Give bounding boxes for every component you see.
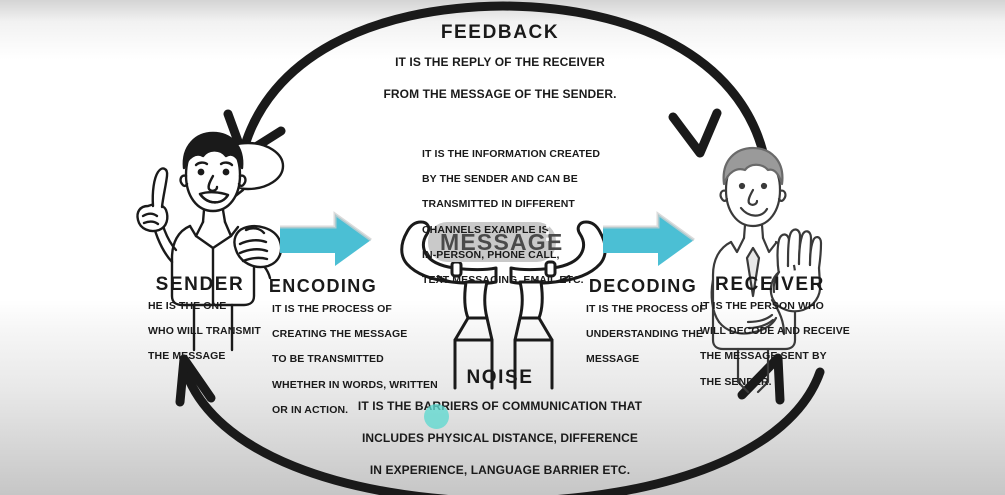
diagram-canvas: FEEDBACK IT IS THE REPLY OF THE RECEIVER…: [0, 0, 1005, 495]
encoding-description-line-4: WHETHER IN WORDS, WRITTEN: [272, 379, 438, 391]
receiver-description: IT IS THE PERSON WHO WILL DECODE AND REC…: [700, 300, 850, 388]
feedback-description: IT IS THE REPLY OF THE RECEIVER FROM THE…: [330, 54, 670, 102]
message-description-line-2: BY THE SENDER AND CAN BE: [422, 173, 578, 185]
encoding-description-line-1: IT IS THE PROCESS OF: [272, 303, 392, 315]
feedback-description-line-1: IT IS THE REPLY OF THE RECEIVER: [395, 55, 605, 69]
noise-description-line-3: IN EXPERIENCE, LANGUAGE BARRIER ETC.: [370, 463, 630, 477]
encoding-description-line-3: TO BE TRANSMITTED: [272, 353, 384, 365]
message-dots-icon: ⋮: [538, 226, 557, 242]
sender-description-line-2: WHO WILL TRANSMIT: [148, 325, 261, 337]
sender-description-line-3: THE MESSAGE: [148, 350, 226, 362]
noise-description-line-2: INCLUDES PHYSICAL DISTANCE, DIFFERENCE: [362, 431, 638, 445]
encoding-arrow[interactable]: [280, 214, 371, 266]
message-description-line-3: TRANSMITTED IN DIFFERENT: [422, 198, 575, 210]
feedback-description-line-2: FROM THE MESSAGE OF THE SENDER.: [383, 87, 616, 101]
noise-description-line-1: IT IS THE BARRIERS OF COMMUNICATION THAT: [358, 399, 642, 413]
decoding-description-line-2: UNDERSTANDING THE: [586, 328, 703, 340]
decoding-arrow[interactable]: [603, 214, 694, 266]
decoding-heading: DECODING: [578, 276, 708, 297]
receiver-description-line-1: IT IS THE PERSON WHO: [700, 300, 824, 312]
sender-heading: SENDER: [140, 274, 260, 296]
noise-description: IT IS THE BARRIERS OF COMMUNICATION THAT…: [320, 398, 680, 478]
decoding-description-line-3: MESSAGE: [586, 353, 639, 365]
message-description: IT IS THE INFORMATION CREATED BY THE SEN…: [422, 148, 602, 287]
sender-description: HE IS THE ONE WHO WILL TRANSMIT THE MESS…: [148, 300, 288, 363]
feedback-heading: FEEDBACK: [400, 22, 600, 44]
noise-heading: NOISE: [420, 367, 580, 389]
encoding-description-line-2: CREATING THE MESSAGE: [272, 328, 407, 340]
receiver-heading: RECEIVER: [700, 274, 840, 296]
receiver-description-line-4: THE SENDER.: [700, 376, 772, 388]
cursor-highlight-dot: [424, 404, 449, 429]
receiver-description-line-3: THE MESSAGE SENT BY: [700, 350, 827, 362]
receiver-description-line-2: WILL DECODE AND RECEIVE: [700, 325, 850, 337]
message-description-line-1: IT IS THE INFORMATION CREATED: [422, 148, 600, 160]
message-description-line-6: TEXT MESSAGING, EMAIL ETC.: [422, 274, 584, 286]
sender-description-line-1: HE IS THE ONE: [148, 300, 226, 312]
decoding-description-line-1: IT IS THE PROCESS OF: [586, 303, 706, 315]
encoding-heading: ENCODING: [258, 276, 388, 297]
